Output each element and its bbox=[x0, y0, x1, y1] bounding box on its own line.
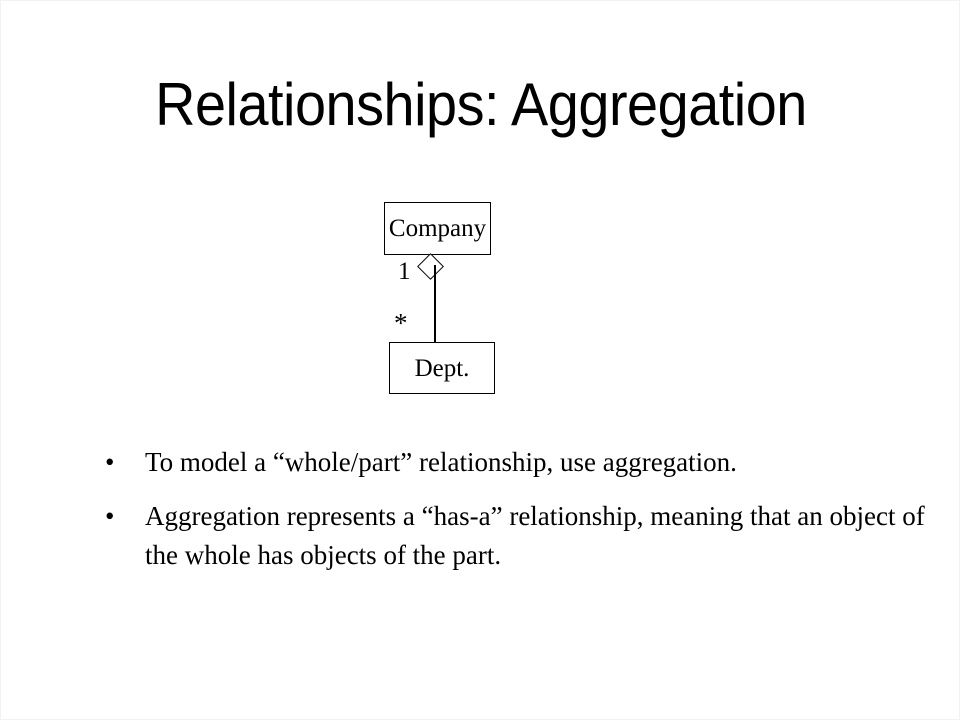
list-item-text: Aggregation represents a “has-a” relatio… bbox=[145, 497, 927, 574]
uml-multiplicity-whole: 1 bbox=[398, 259, 411, 284]
list-item: • To model a “whole/part” relationship, … bbox=[97, 443, 927, 481]
uml-multiplicity-part: * bbox=[394, 310, 408, 337]
list-item: • Aggregation represents a “has-a” relat… bbox=[97, 497, 927, 574]
uml-association-line bbox=[434, 265, 436, 343]
uml-aggregation-diagram: Company 1 * Dept. bbox=[361, 191, 541, 406]
page-title: Relationships: Aggregation bbox=[35, 75, 928, 135]
bullet-marker-icon: • bbox=[105, 443, 114, 481]
bullet-marker-icon: • bbox=[105, 497, 114, 535]
uml-class-box-company: Company bbox=[384, 202, 491, 255]
bullet-list: • To model a “whole/part” relationship, … bbox=[97, 443, 927, 590]
list-item-text: To model a “whole/part” relationship, us… bbox=[145, 443, 927, 481]
uml-class-box-dept: Dept. bbox=[389, 342, 495, 394]
slide-canvas: Relationships: Aggregation Company 1 * D… bbox=[0, 0, 960, 720]
hollow-diamond-icon bbox=[417, 253, 444, 280]
